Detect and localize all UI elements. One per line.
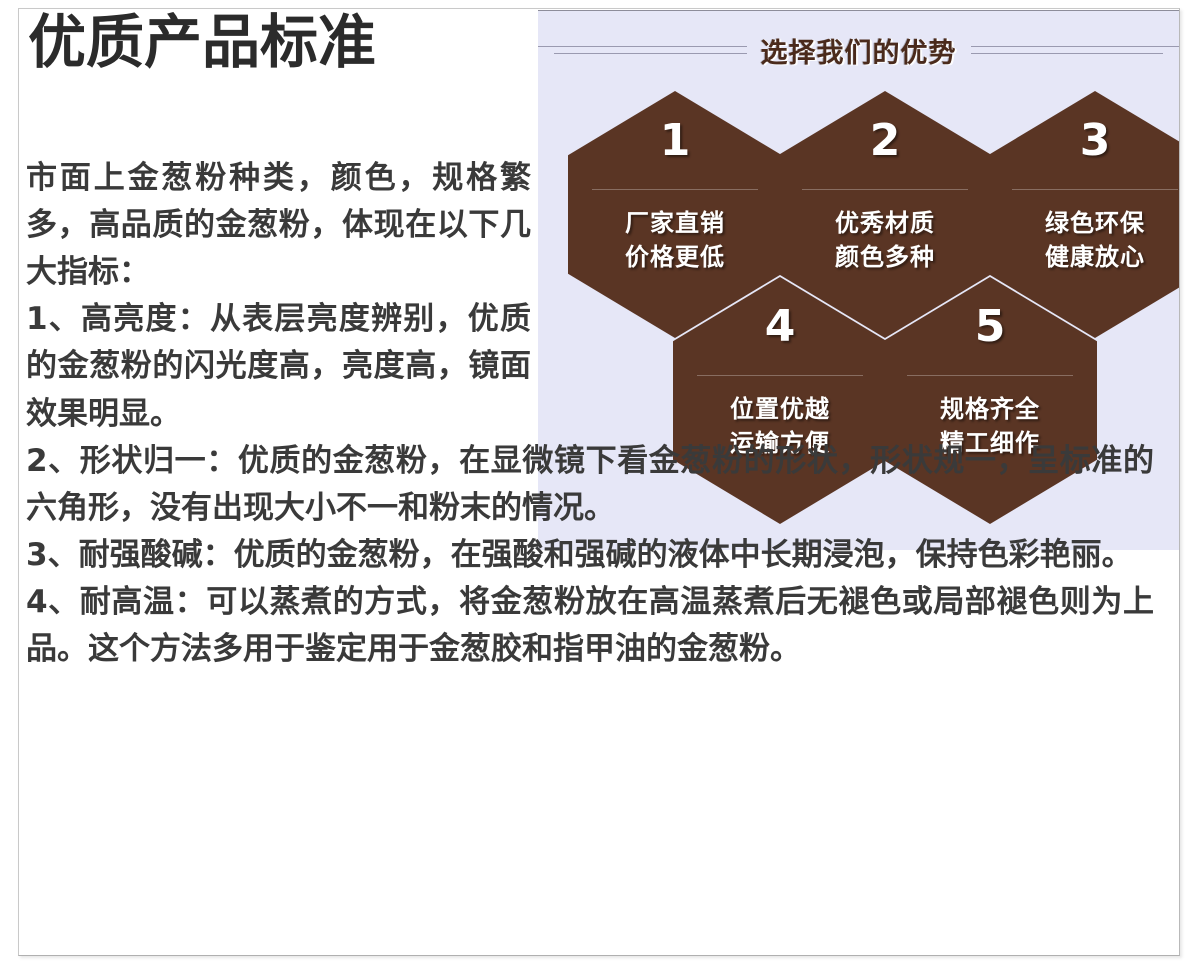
decorative-rule-right (967, 41, 1180, 59)
article-body: 市面上金葱粉种类，颜色，规格繁多，高品质的金葱粉，体现在以下几大指标： 1、高亮… (26, 155, 1156, 673)
article-intro: 市面上金葱粉种类，颜色，规格繁多，高品质的金葱粉，体现在以下几大指标： (26, 155, 531, 296)
article-point-4: 4、耐高温：可以蒸煮的方式，将金葱粉放在高温蒸煮后无褪色或局部褪色则为上品。这个… (26, 579, 1154, 673)
advantages-title: 选择我们的优势 (761, 31, 957, 70)
product-standard-infographic: 优质产品标准 选择我们的优势 1 厂家直销 价格更低 2 优秀材质 (0, 0, 1200, 970)
advantages-header: 选择我们的优势 (538, 25, 1179, 75)
page-title: 优质产品标准 (28, 12, 376, 73)
decorative-rule-left (538, 41, 751, 59)
article-point-3: 3、耐强酸碱：优质的金葱粉，在强酸和强碱的液体中长期浸泡，保持色彩艳丽。 (26, 532, 1154, 579)
article-point-1: 1、高亮度：从表层亮度辨别，优质的金葱粉的闪光度高，亮度高，镜面效果明显。 (26, 296, 531, 437)
article-point-2: 2、形状归一：优质的金葱粉，在显微镜下看金葱粉的形状，形状规一，呈标准的六角形，… (26, 438, 1154, 532)
